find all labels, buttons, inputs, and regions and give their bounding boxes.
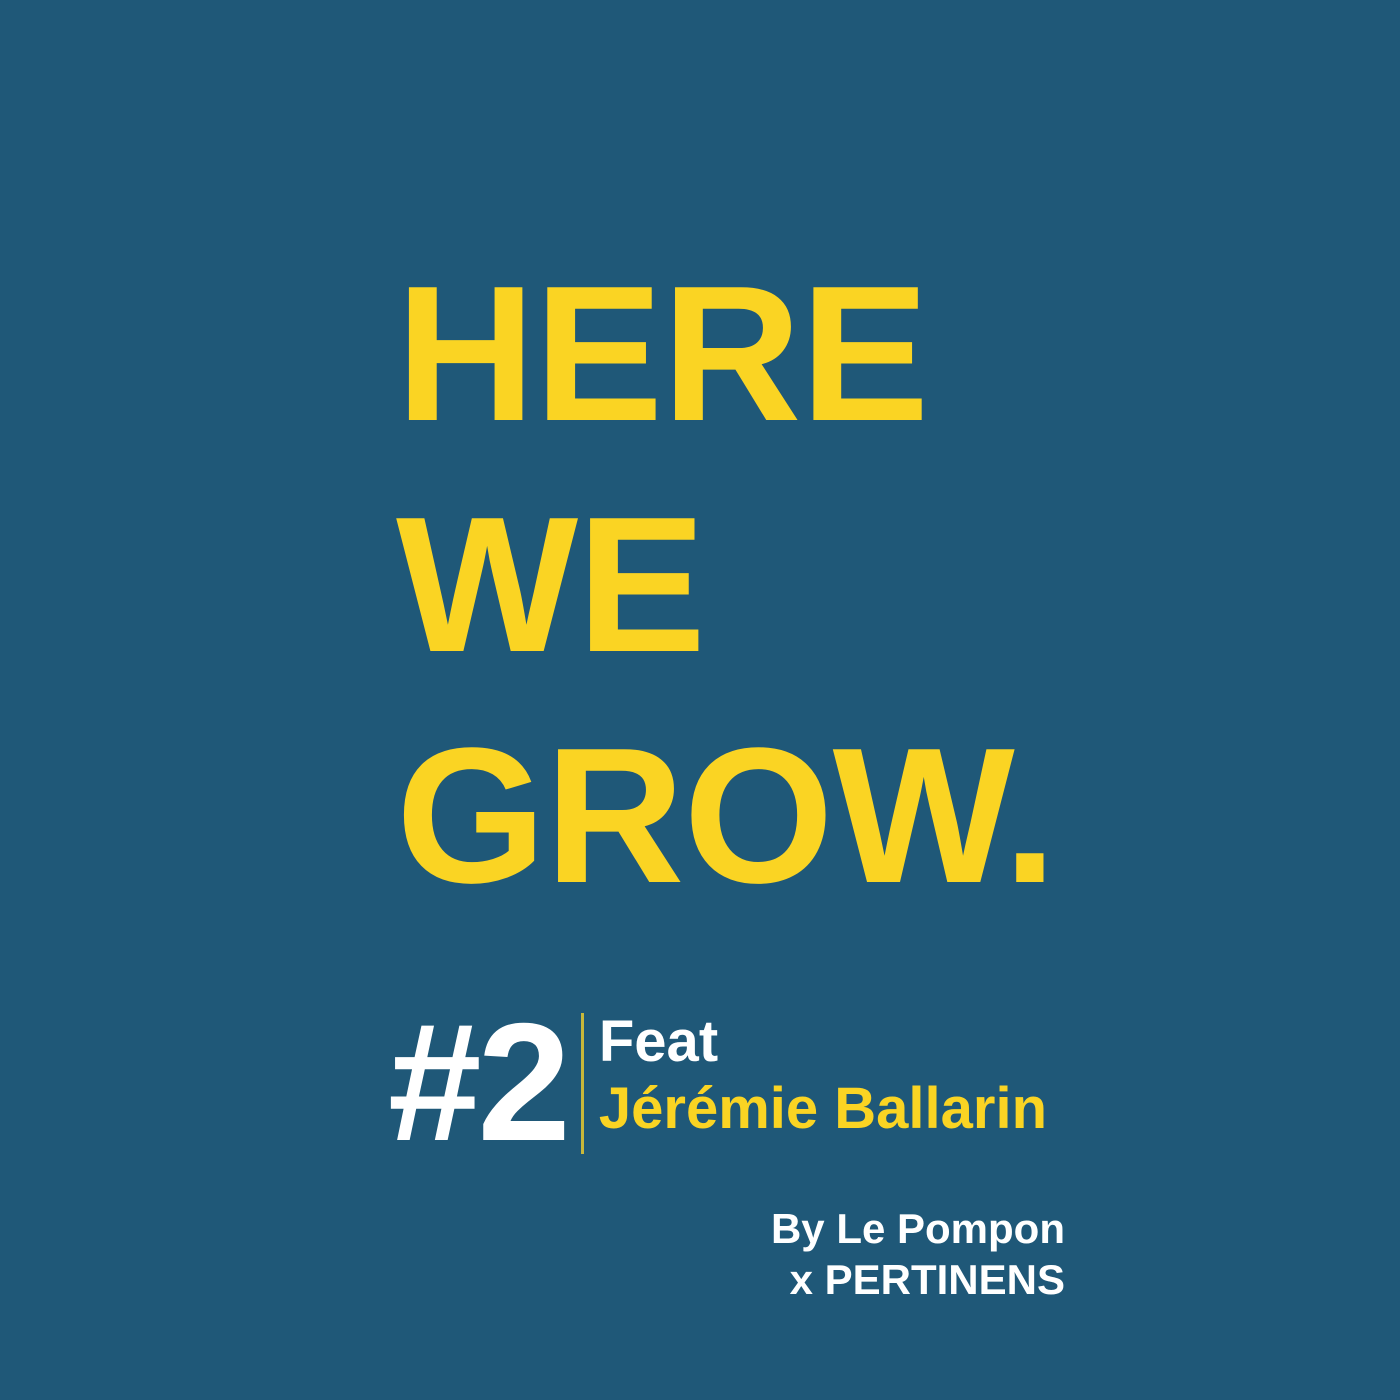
headline-line-2: WE xyxy=(396,469,1156,700)
podcast-cover-poster: HERE WE GROW. #2 Feat Jérémie Ballarin B… xyxy=(0,0,1400,1400)
episode-number: #2 xyxy=(388,1004,567,1157)
credits-block: By Le Pompon x PERTINENS xyxy=(560,1203,1065,1305)
credit-line-partner: x PERTINENS xyxy=(560,1254,1065,1305)
episode-feature-block: #2 Feat Jérémie Ballarin xyxy=(388,1004,1047,1157)
feature-text-group: Feat Jérémie Ballarin xyxy=(599,1004,1047,1144)
credit-line-producer: By Le Pompon xyxy=(560,1203,1065,1254)
headline-line-1: HERE xyxy=(396,238,1156,469)
headline-line-3: GROW. xyxy=(396,700,1156,931)
feature-label: Feat xyxy=(599,1010,1047,1074)
vertical-divider-rule xyxy=(581,1013,584,1154)
feature-guest-name: Jérémie Ballarin xyxy=(599,1074,1047,1144)
headline-block: HERE WE GROW. xyxy=(396,238,1156,931)
